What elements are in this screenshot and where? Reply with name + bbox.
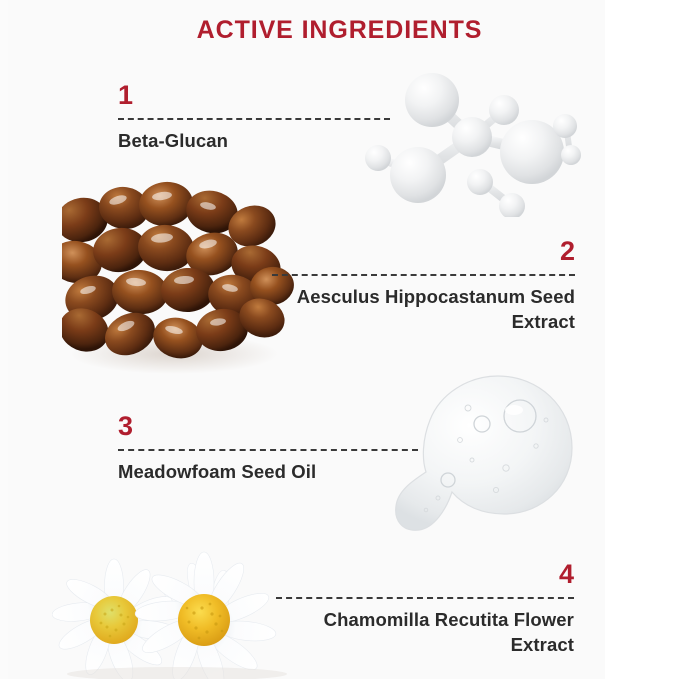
ingredient-name-1: Beta-Glucan — [118, 129, 390, 154]
clear-oil-droplet-photo — [386, 368, 601, 543]
ingredient-name-3: Meadowfoam Seed Oil — [118, 460, 418, 485]
ingredient-divider-2 — [272, 274, 575, 276]
ingredient-divider-1 — [118, 118, 390, 120]
ingredient-item-1: 1 Beta-Glucan — [118, 82, 390, 154]
ingredient-name-2: Aesculus Hippocastanum Seed Extract — [272, 285, 575, 334]
left-edge-band — [0, 0, 8, 679]
active-ingredients-poster: ACTIVE INGREDIENTS 1 Beta-Glucan 2 Aescu… — [0, 0, 679, 679]
chamomile-flowers-photo — [52, 548, 302, 679]
ingredient-divider-4 — [276, 597, 574, 599]
ingredient-number-4: 4 — [276, 561, 574, 588]
ingredient-item-2: 2 Aesculus Hippocastanum Seed Extract — [272, 238, 575, 334]
right-edge-band — [605, 0, 679, 679]
page-title: ACTIVE INGREDIENTS — [0, 16, 679, 45]
ingredient-number-1: 1 — [118, 82, 390, 109]
ingredient-item-4: 4 Chamomilla Recutita Flower Extract — [276, 561, 574, 657]
ingredient-name-4: Chamomilla Recutita Flower Extract — [276, 608, 574, 657]
ingredient-number-2: 2 — [272, 238, 575, 265]
ingredient-item-3: 3 Meadowfoam Seed Oil — [118, 413, 418, 485]
ingredient-number-3: 3 — [118, 413, 418, 440]
horse-chestnut-seeds-photo — [62, 178, 297, 374]
ingredient-divider-3 — [118, 449, 418, 451]
